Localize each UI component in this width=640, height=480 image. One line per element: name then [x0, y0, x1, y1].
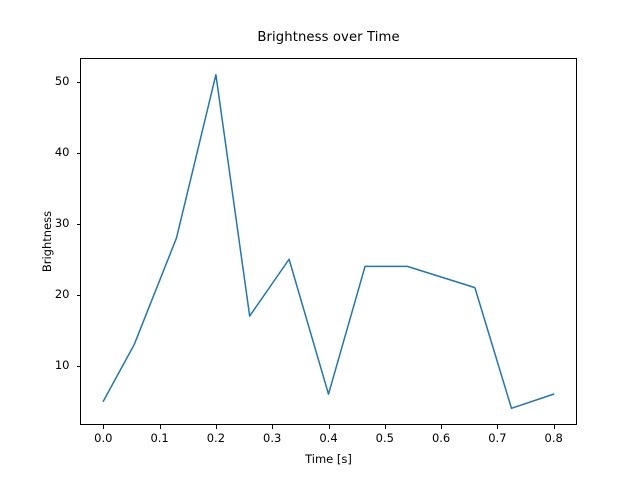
x-tick-mark	[554, 425, 555, 429]
x-tick-mark	[272, 425, 273, 429]
x-tick-label: 0.0	[94, 431, 112, 445]
x-tick-label: 0.4	[319, 431, 337, 445]
x-tick-label: 0.5	[376, 431, 394, 445]
y-axis-label: Brightness	[40, 58, 54, 425]
chart-title: Brightness over Time	[80, 30, 577, 45]
y-tick-mark	[77, 224, 81, 225]
y-tick-label: 20	[55, 287, 70, 301]
x-tick-mark	[441, 425, 442, 429]
x-tick-label: 0.1	[150, 431, 168, 445]
y-tick-label: 10	[55, 358, 70, 372]
y-tick-mark	[77, 153, 81, 154]
figure-canvas: Brightness over Time 1020304050 0.00.10.…	[0, 0, 640, 480]
x-tick-mark	[216, 425, 217, 429]
y-tick-label: 40	[55, 145, 70, 159]
x-tick-label: 0.8	[545, 431, 563, 445]
y-tick-mark	[77, 82, 81, 83]
y-tick-mark	[77, 295, 81, 296]
y-tick-label: 30	[55, 216, 70, 230]
x-tick-mark	[497, 425, 498, 429]
x-tick-mark	[329, 425, 330, 429]
x-tick-label: 0.3	[263, 431, 281, 445]
line-series-brightness	[80, 58, 577, 425]
plot-area: 1020304050 0.00.10.20.30.40.50.60.70.8	[80, 58, 577, 425]
x-tick-label: 0.6	[432, 431, 450, 445]
x-tick-label: 0.7	[488, 431, 506, 445]
x-axis-label: Time [s]	[80, 452, 577, 466]
x-tick-mark	[160, 425, 161, 429]
y-tick-label: 50	[55, 74, 70, 88]
x-tick-label: 0.2	[207, 431, 225, 445]
y-tick-mark	[77, 366, 81, 367]
x-tick-mark	[103, 425, 104, 429]
x-tick-mark	[385, 425, 386, 429]
